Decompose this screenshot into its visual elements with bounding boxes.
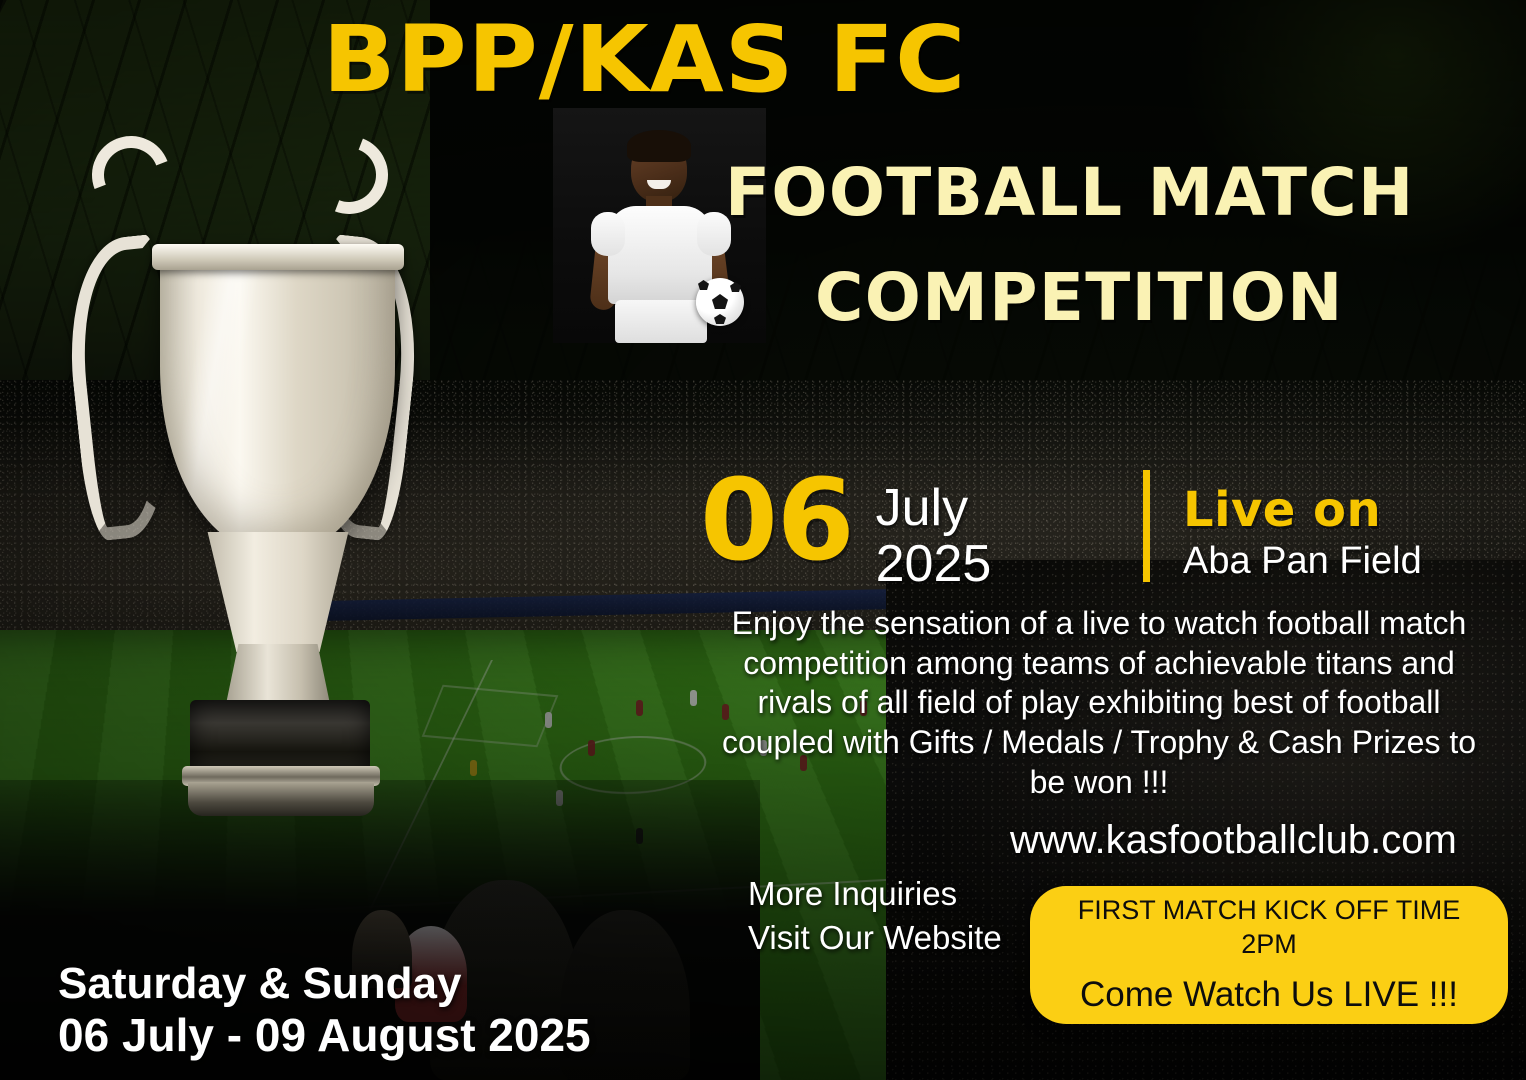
trophy-image [48,120,438,920]
event-month-year: July 2025 [876,480,992,592]
soccer-ball-icon [696,278,744,326]
trophy-scroll-right [298,124,401,227]
inquiries-line-1: More Inquiries [748,872,1002,916]
event-date-block: 06 July 2025 [700,470,991,592]
trophy-scroll-left [80,124,183,227]
schedule-date-range: 06 July - 09 August 2025 [58,1009,591,1062]
subtitle-line-1: FOOTBALL MATCH [725,160,1415,226]
venue-name: Aba Pan Field [1183,540,1422,583]
player-sleeve-left [591,212,625,256]
inquiries-line-2: Visit Our Website [748,916,1002,960]
player-shorts [615,300,707,343]
football-match-poster: BPP/KAS FC FOOTBALL MATCH COMPETITION 06… [0,0,1526,1080]
cta-kickoff-label: FIRST MATCH KICK OFF TIME [1078,893,1461,928]
trophy-stem [226,644,330,704]
cta-kickoff-time: 2PM [1241,927,1297,962]
trophy-base-upper [190,700,370,772]
cta-watch-live: Come Watch Us LIVE !!! [1080,972,1458,1018]
schedule-block: Saturday & Sunday 06 July - 09 August 20… [58,958,591,1062]
trophy-rim [152,244,404,270]
live-on-label: Live on [1183,486,1381,534]
website-url[interactable]: www.kasfootballclub.com [1010,818,1457,863]
schedule-days: Saturday & Sunday [58,958,591,1009]
kick-off-cta-box[interactable]: FIRST MATCH KICK OFF TIME 2PM Come Watch… [1030,886,1508,1024]
subtitle-line-2: COMPETITION [815,265,1344,331]
event-year: 2025 [876,536,992,592]
vertical-divider [1143,470,1150,582]
page-title: BPP/KAS FC [323,14,967,106]
description-text: Enjoy the sensation of a live to watch f… [718,604,1480,802]
event-day: 06 [700,470,854,573]
player-hair [627,130,691,162]
event-month: July [876,480,992,536]
inquiries-text: More Inquiries Visit Our Website [748,872,1002,959]
trophy-taper [198,532,358,652]
trophy-base-lower [188,782,374,816]
